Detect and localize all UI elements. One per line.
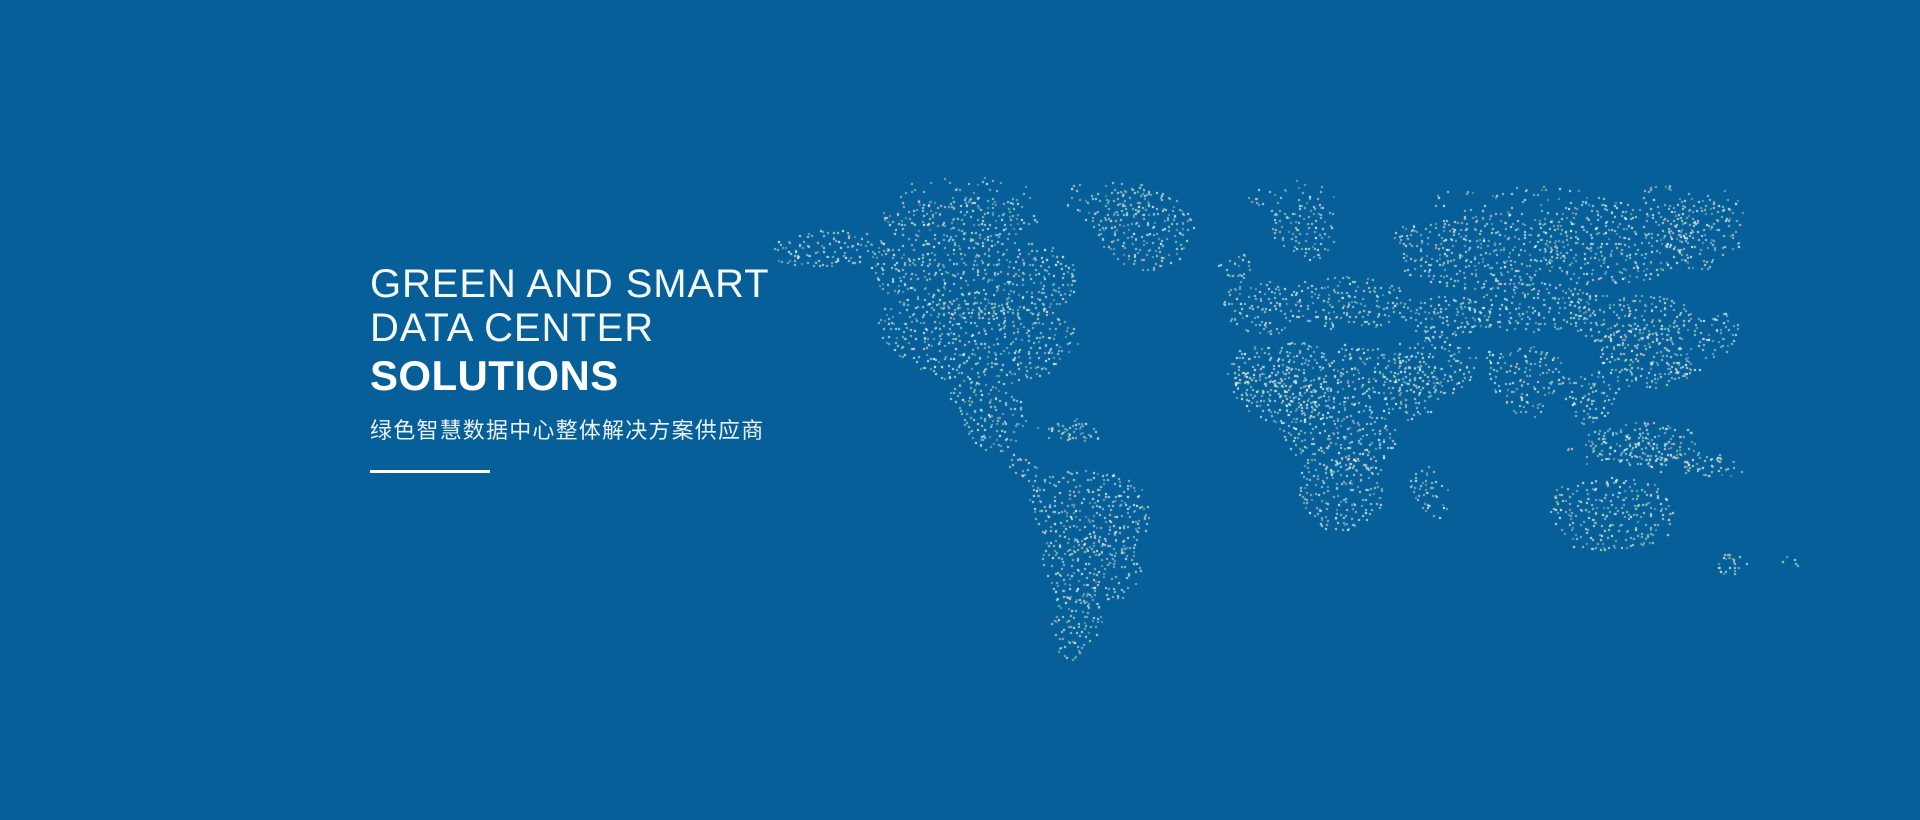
hero-subtitle: 绿色智慧数据中心整体解决方案供应商 <box>370 417 1070 445</box>
headline-line-3: SOLUTIONS <box>370 350 1070 400</box>
headline-line-1: GREEN AND SMART <box>370 262 1070 306</box>
hero-banner: GREEN AND SMART DATA CENTER SOLUTIONS 绿色… <box>0 0 1920 820</box>
headline-line-2: DATA CENTER <box>370 306 1070 350</box>
hero-text-block: GREEN AND SMART DATA CENTER SOLUTIONS 绿色… <box>370 262 1070 473</box>
hero-divider-rule <box>370 470 490 473</box>
